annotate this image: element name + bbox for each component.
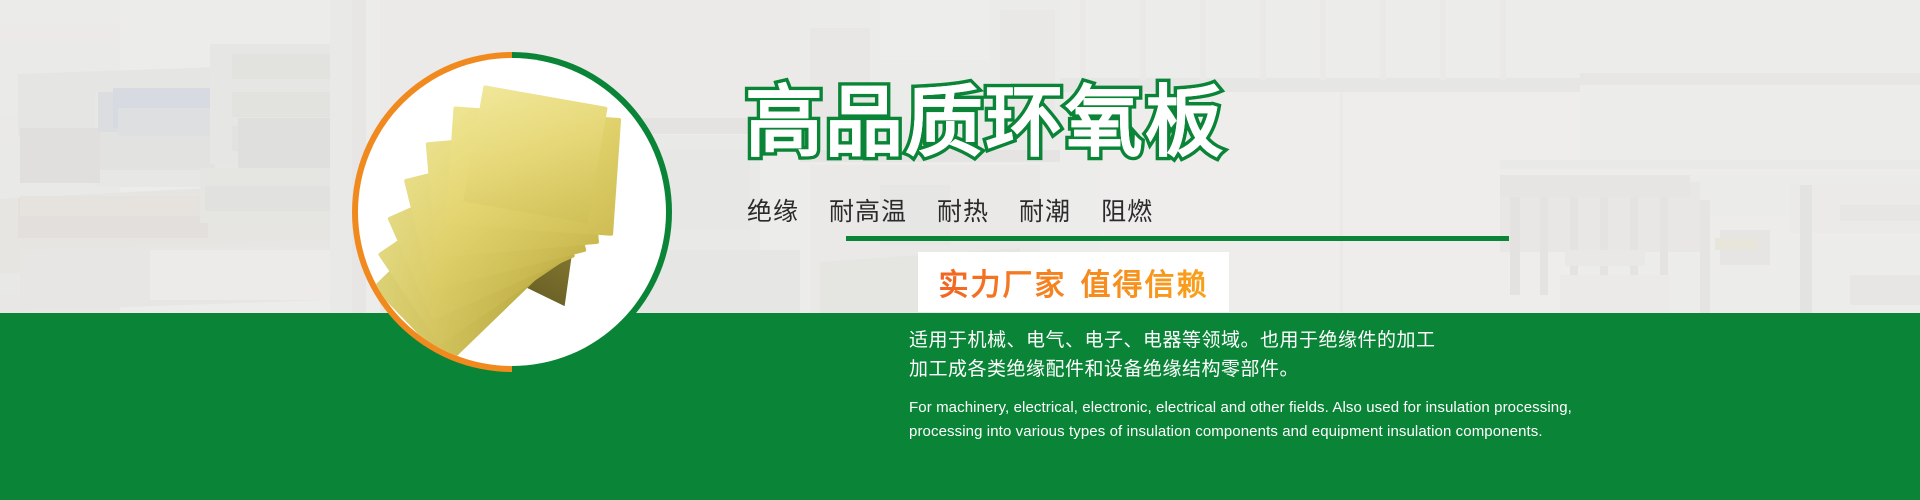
feature-keyword: 绝缘 <box>747 198 799 226</box>
feature-keyword: 耐高温 <box>829 198 907 226</box>
promo-text-part1: 实力厂家 <box>939 269 1067 302</box>
feature-keyword-list: 绝缘耐高温耐热耐潮阻燃 <box>747 196 1153 228</box>
page-title: 高品质环氧板 <box>745 78 1225 166</box>
promo-badge-text: 实力厂家值得信赖 <box>939 260 1209 304</box>
description-chinese: 适用于机械、电气、电子、电器等领域。也用于绝缘件的加工 加工成各类绝缘配件和设备… <box>909 326 1436 384</box>
description-english: For machinery, electrical, electronic, e… <box>909 396 1572 444</box>
description-english-line: For machinery, electrical, electronic, e… <box>909 396 1572 420</box>
feature-keyword: 阻燃 <box>1101 198 1153 226</box>
product-hero-banner: 高品质环氧板 高品质环氧板 绝缘耐高温耐热耐潮阻燃 实力厂家值得信赖 适用于机械… <box>0 0 1920 500</box>
description-chinese-line: 加工成各类绝缘配件和设备绝缘结构零部件。 <box>909 355 1436 384</box>
promo-text-part2: 值得信赖 <box>1081 269 1209 302</box>
promo-badge: 实力厂家值得信赖 <box>918 252 1229 312</box>
description-chinese-line: 适用于机械、电气、电子、电器等领域。也用于绝缘件的加工 <box>909 326 1436 355</box>
feature-keyword: 耐潮 <box>1019 198 1071 226</box>
description-english-line: processing into various types of insulat… <box>909 420 1572 444</box>
feature-keyword: 耐热 <box>937 198 989 226</box>
horizontal-divider <box>846 236 1509 241</box>
banner-text-content: 高品质环氧板 高品质环氧板 绝缘耐高温耐热耐潮阻燃 实力厂家值得信赖 适用于机械… <box>0 0 1920 500</box>
